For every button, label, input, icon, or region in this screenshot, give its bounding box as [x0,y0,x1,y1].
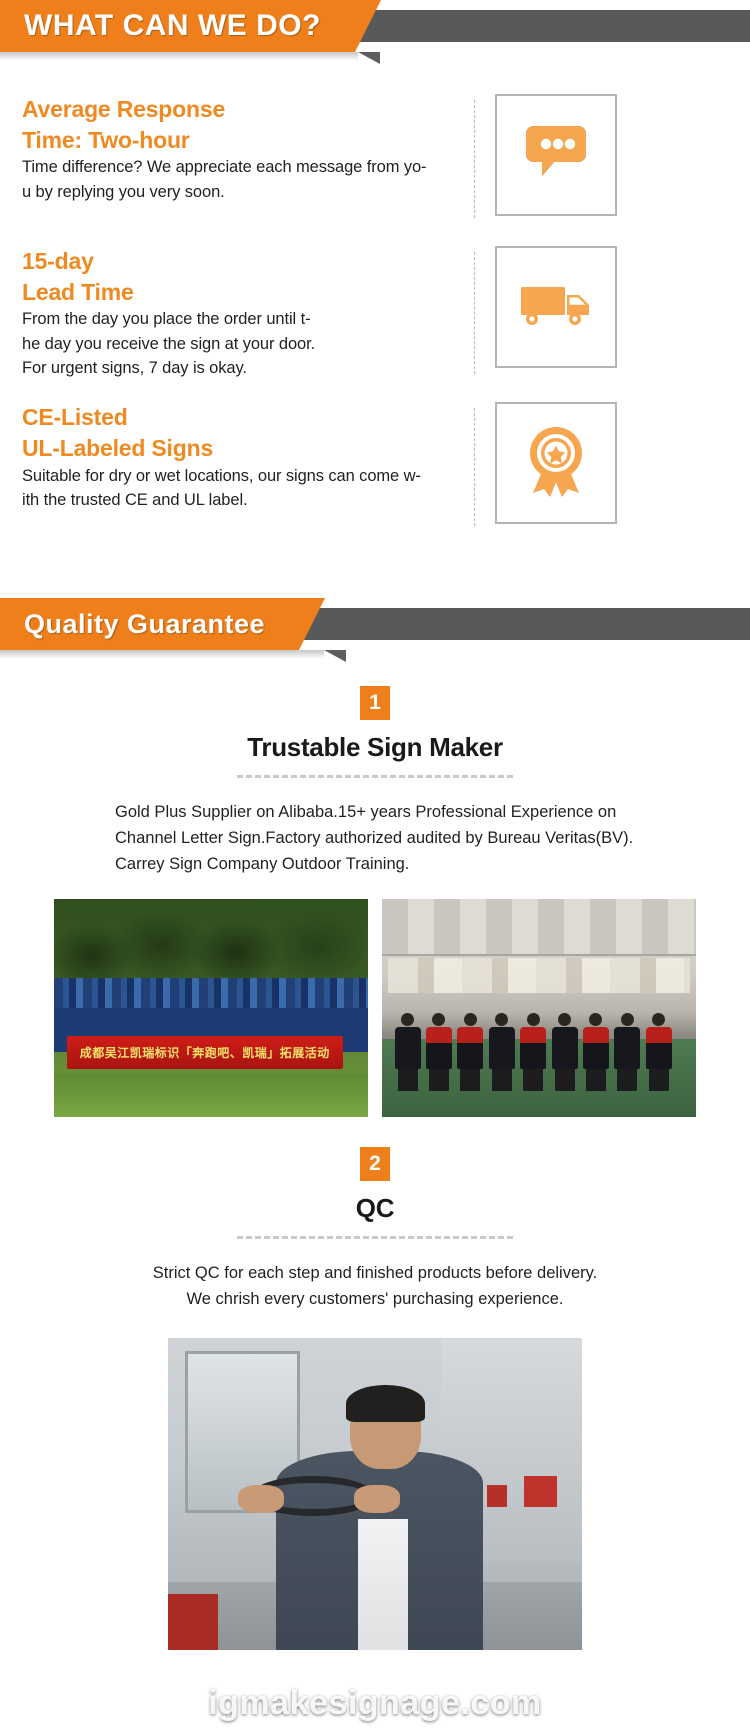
photo-qc-inspection [168,1338,582,1650]
feature-row-response-time: Average Response Time: Two-hour Time dif… [0,94,750,224]
banner-title: Quality Guarantee [24,609,265,640]
feature-body-line3: For urgent signs, 7 day is okay. [22,357,466,380]
banner-drop-shadow [0,52,358,61]
award-rosette-icon [523,425,589,502]
feature-row-lead-time: 15-day Lead Time From the day you place … [0,246,750,380]
feature-heading-line2: Time: Two-hour [22,125,466,156]
feature-heading-line2: Lead Time [22,277,466,308]
banner-drop-shadow [0,650,324,659]
dashed-divider [474,408,475,526]
feature-text-block: 15-day Lead Time From the day you place … [22,246,474,380]
feature-heading-line1: Average Response [22,94,466,125]
feature-heading-line1: 15-day [22,246,466,277]
dashed-divider [474,100,475,218]
chat-bubble-icon [524,124,588,187]
features-list: Average Response Time: Two-hour Time dif… [0,60,750,532]
feature-heading-line2: UL-Labeled Signs [22,433,466,464]
paragraph-line-1: Gold Plus Supplier on Alibaba.15+ years … [115,800,635,826]
feature-body-line2: he day you receive the sign at your door… [22,333,466,356]
quality-guarantee-banner: Quality Guarantee [0,598,750,658]
delivery-truck-icon [519,281,593,334]
photo-red-banner: 成都吴江凯瑞标识「奔跑吧、凯瑞」拓展活动 [67,1036,343,1069]
photo-banner-caption: 成都吴江凯瑞标识「奔跑吧、凯瑞」拓展活动 [80,1044,330,1061]
feature-body-line2: ith the trusted CE and UL label. [22,489,466,512]
section-title: QC [0,1193,750,1224]
banner-orange-tag: Quality Guarantee [0,598,299,650]
feature-heading-line1: CE-Listed [22,402,466,433]
section-dashed-rule [237,775,513,778]
banner-fold-triangle [358,52,380,64]
quality-section-1: 1 Trustable Sign Maker Gold Plus Supplie… [0,686,750,1117]
feature-row-ce-ul-listed: CE-Listed UL-Labeled Signs Suitable for … [0,402,750,532]
photo-group-outdoor-training: 成都吴江凯瑞标识「奔跑吧、凯瑞」拓展活动 [54,899,368,1117]
feature-body-line1: From the day you place the order until t… [22,308,466,331]
site-watermark: igmakesignage.com [0,1684,750,1723]
section-paragraph: Strict QC for each step and finished pro… [105,1261,645,1312]
section-title: Trustable Sign Maker [0,732,750,763]
paragraph-line-2: We chrish every customers' purchasing ex… [105,1287,645,1313]
banner-title: WHAT CAN WE DO? [24,9,321,43]
banner-orange-tag: WHAT CAN WE DO? [0,0,355,52]
paragraph-line-2: Channel Letter Sign.Factory authorized a… [115,826,635,852]
quality-section-2: 2 QC Strict QC for each step and finishe… [0,1147,750,1650]
paragraph-line-3: Carrey Sign Company Outdoor Training. [115,852,635,878]
section-paragraph: Gold Plus Supplier on Alibaba.15+ years … [115,800,635,877]
feature-icon-box [495,246,617,368]
photo-factory-team-meeting [382,899,696,1117]
section-spacer [0,554,750,598]
photo-people-group [382,986,696,1099]
feature-icon-box [495,94,617,216]
feature-text-block: Average Response Time: Two-hour Time dif… [22,94,474,204]
paragraph-line-1: Strict QC for each step and finished pro… [105,1261,645,1287]
section-number-badge: 2 [360,1147,390,1181]
section-photo-row: 成都吴江凯瑞标识「奔跑吧、凯瑞」拓展活动 [0,899,750,1117]
feature-body-line1: Suitable for dry or wet locations, our s… [22,465,466,488]
banner-fold-triangle [324,650,346,662]
feature-body-line1: Time difference? We appreciate each mess… [22,156,466,179]
feature-text-block: CE-Listed UL-Labeled Signs Suitable for … [22,402,474,512]
section-number-badge: 1 [360,686,390,720]
feature-icon-box [495,402,617,524]
what-can-we-do-banner: WHAT CAN WE DO? [0,0,750,60]
dashed-divider [474,252,475,374]
section-dashed-rule [237,1236,513,1239]
feature-body-line2: u by replying you very soon. [22,181,466,204]
